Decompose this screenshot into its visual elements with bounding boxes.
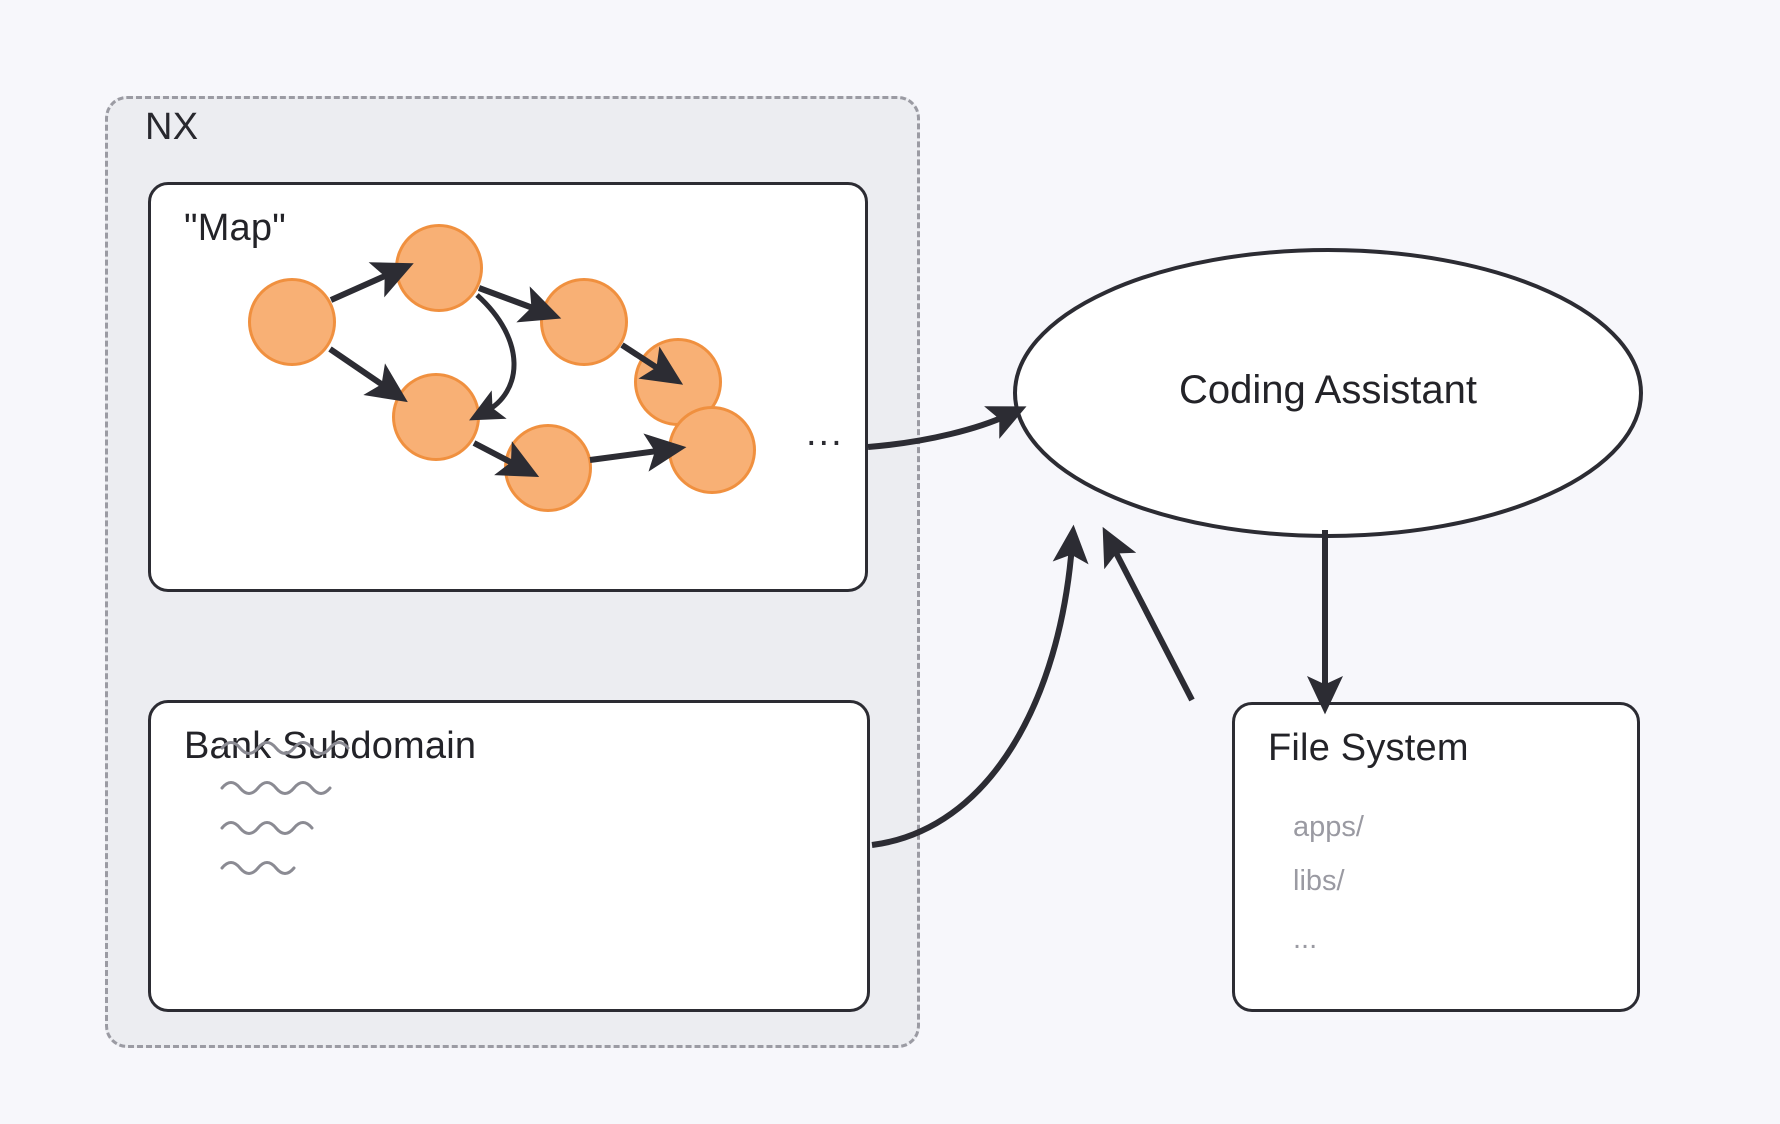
bank-subdomain-squiggles: [222, 743, 348, 874]
vector-layer: [0, 0, 1780, 1124]
edge-n1-n5: [330, 349, 390, 390]
squiggle-line: [222, 743, 348, 754]
connector-map-to-assistant: [868, 415, 1008, 447]
squiggle-line: [222, 823, 312, 834]
connector-filesystem-to-assistant: [1112, 545, 1192, 700]
squiggle-line: [222, 863, 294, 874]
squiggle-line: [222, 783, 330, 794]
coding-assistant-label: Coding Assistant: [1015, 368, 1641, 413]
connector-bank-to-assistant: [872, 545, 1072, 845]
map-graph-edges: [330, 272, 665, 467]
edge-n2-n5: [477, 295, 514, 412]
diagram-canvas: NX "Map" ... Bank Subdomain File System …: [0, 0, 1780, 1124]
edge-n5-n6: [474, 443, 520, 467]
edge-n1-n2: [331, 272, 394, 300]
edge-n6-n7: [590, 450, 665, 460]
edge-n3-n4: [622, 345, 665, 373]
